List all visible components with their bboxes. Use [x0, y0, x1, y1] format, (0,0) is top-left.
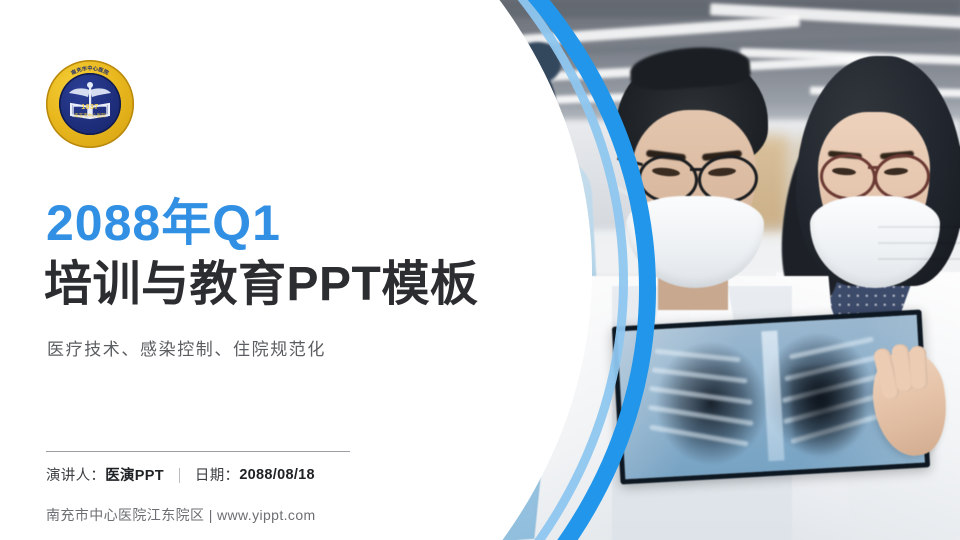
subtitle: 医疗技术、感染控制、住院规范化 — [47, 335, 326, 360]
doctor-male-glasses-bridge — [690, 168, 702, 171]
hand-finger — [909, 346, 928, 391]
hospital-seal-logo: 南充市中心医院 NANCHONG CENTRAL HOSPITAL — [46, 60, 134, 148]
title-line-2: 培训与教育PPT模板 — [44, 258, 478, 312]
speaker-name: 医演PPT — [105, 464, 164, 485]
organization-and-website: 南充市中心医院江东院区 | www.yippt.com — [46, 505, 316, 525]
date-value: 2088/08/18 — [239, 467, 315, 483]
title-line-1: 2088年Q1 — [46, 198, 281, 248]
speaker-label: 演讲人： — [46, 464, 105, 485]
logo-year: 1937 — [46, 104, 134, 111]
cover-content: 南充市中心医院 NANCHONG CENTRAL HOSPITAL — [0, 0, 420, 540]
meta-separator — [179, 468, 180, 483]
presentation-cover-slide: 南充市中心医院 NANCHONG CENTRAL HOSPITAL — [0, 0, 960, 540]
footer-meta: 演讲人： 医演PPT 日期： 2088/08/18 — [46, 464, 315, 485]
doctor-female-glasses-bridge — [868, 166, 878, 169]
footer-divider — [46, 451, 350, 452]
date-label: 日期： — [195, 464, 239, 485]
logo-sub-text: 南充市中心医院 — [46, 113, 134, 119]
